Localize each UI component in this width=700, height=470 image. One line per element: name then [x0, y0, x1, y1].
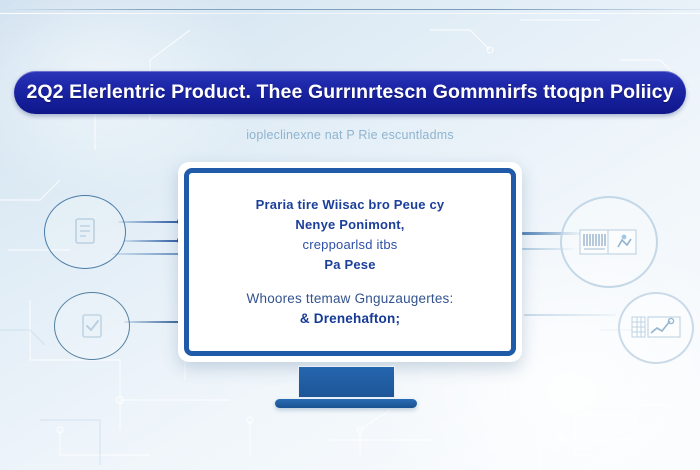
- connector-line-left-3: [112, 253, 184, 255]
- callout-circle-left-2[interactable]: [54, 292, 130, 360]
- screen-line-2: Nenye Ponimont,: [189, 215, 511, 235]
- callout-circle-right-2[interactable]: [618, 292, 694, 364]
- screen-question-line-1: Whoores ttemaw Gnguzaugertes:: [189, 289, 511, 309]
- barcode-label-icon: [578, 222, 640, 262]
- poster-canvas: 2Q2 Elerlentric Product. Thee Gurrınrtes…: [0, 0, 700, 470]
- connector-line-left-4: [124, 321, 186, 323]
- screen-line-4: Pa Pese: [189, 255, 511, 275]
- monitor-bezel: Praria tire Wiisac bro Peue cy Nenye Pon…: [184, 168, 516, 356]
- monitor-frame: Praria tire Wiisac bro Peue cy Nenye Pon…: [178, 162, 522, 362]
- top-divider-line: [0, 9, 700, 10]
- top-divider-highlight: [0, 13, 700, 14]
- clipboard-check-icon: [73, 307, 111, 345]
- subtitle-text: iopleclinexne nat P Rie escuntladms: [0, 128, 700, 142]
- screen-line-3: creppoarlsd itbs: [189, 235, 511, 255]
- callout-circle-right-1[interactable]: [560, 196, 658, 288]
- screen-spacer: [189, 275, 511, 289]
- monitor-stand-neck: [298, 366, 395, 398]
- title-banner: 2Q2 Elerlentric Product. Thee Gurrınrtes…: [14, 71, 686, 114]
- screen-line-1: Praria tire Wiisac bro Peue cy: [189, 195, 511, 215]
- callout-circle-left-1[interactable]: [44, 195, 126, 269]
- chart-grid-icon: [629, 310, 683, 346]
- banner-title-text: 2Q2 Elerlentric Product. Thee Gurrınrtes…: [26, 81, 673, 104]
- connector-line-left-2: [124, 240, 184, 242]
- connector-line-left-1: [118, 221, 184, 223]
- document-icon: [65, 212, 105, 252]
- monitor-screen-content: Praria tire Wiisac bro Peue cy Nenye Pon…: [189, 195, 511, 329]
- monitor-stand-base: [275, 399, 417, 408]
- connector-line-right-3: [524, 314, 616, 316]
- screen-question-line-2: & Drenehafton;: [189, 309, 511, 329]
